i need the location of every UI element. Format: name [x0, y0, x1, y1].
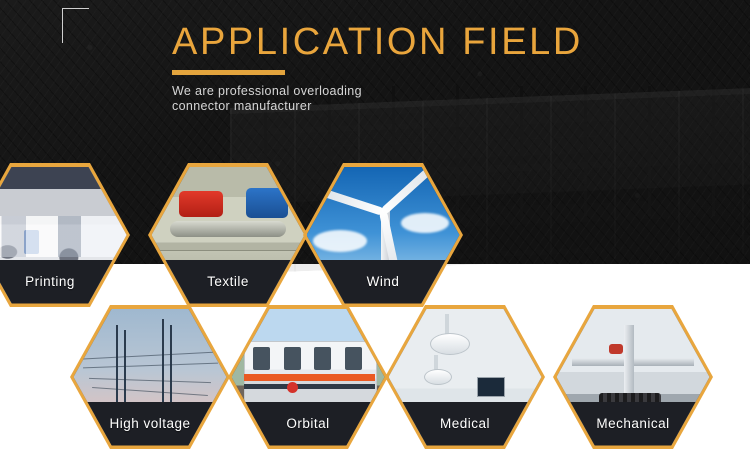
hex-label-band: Medical: [389, 402, 542, 446]
hex-inner: Textile: [152, 167, 305, 304]
hex-inner: Mechanical: [557, 309, 710, 446]
hex-card-high-voltage[interactable]: High voltage: [70, 305, 230, 449]
application-hex-grid: Printing Textile: [0, 0, 750, 468]
hex-label: Printing: [25, 274, 75, 289]
hex-card-orbital[interactable]: Orbital: [228, 305, 388, 449]
hex-card-textile[interactable]: Textile: [148, 163, 308, 307]
hex-card-printing[interactable]: Printing: [0, 163, 130, 307]
hex-label-band: Orbital: [232, 402, 385, 446]
hex-label: Textile: [207, 274, 249, 289]
hex-label: Medical: [440, 416, 490, 431]
hex-label-band: Printing: [0, 260, 127, 304]
hex-label: Orbital: [286, 416, 329, 431]
hex-label: Wind: [367, 274, 400, 289]
hex-inner: Orbital: [232, 309, 385, 446]
hex-label-band: High voltage: [74, 402, 227, 446]
hex-card-mechanical[interactable]: Mechanical: [553, 305, 713, 449]
hex-label-band: Textile: [152, 260, 305, 304]
hex-card-wind[interactable]: Wind: [303, 163, 463, 307]
hex-card-medical[interactable]: Medical: [385, 305, 545, 449]
hex-label: Mechanical: [596, 416, 669, 431]
hex-inner: High voltage: [74, 309, 227, 446]
hex-inner: Medical: [389, 309, 542, 446]
application-field-banner: APPLICATION FIELD We are professional ov…: [0, 0, 750, 468]
hex-inner: Printing: [0, 167, 127, 304]
hex-label: High voltage: [109, 416, 190, 431]
hex-label-band: Mechanical: [557, 402, 710, 446]
hex-label-band: Wind: [307, 260, 460, 304]
hex-inner: Wind: [307, 167, 460, 304]
